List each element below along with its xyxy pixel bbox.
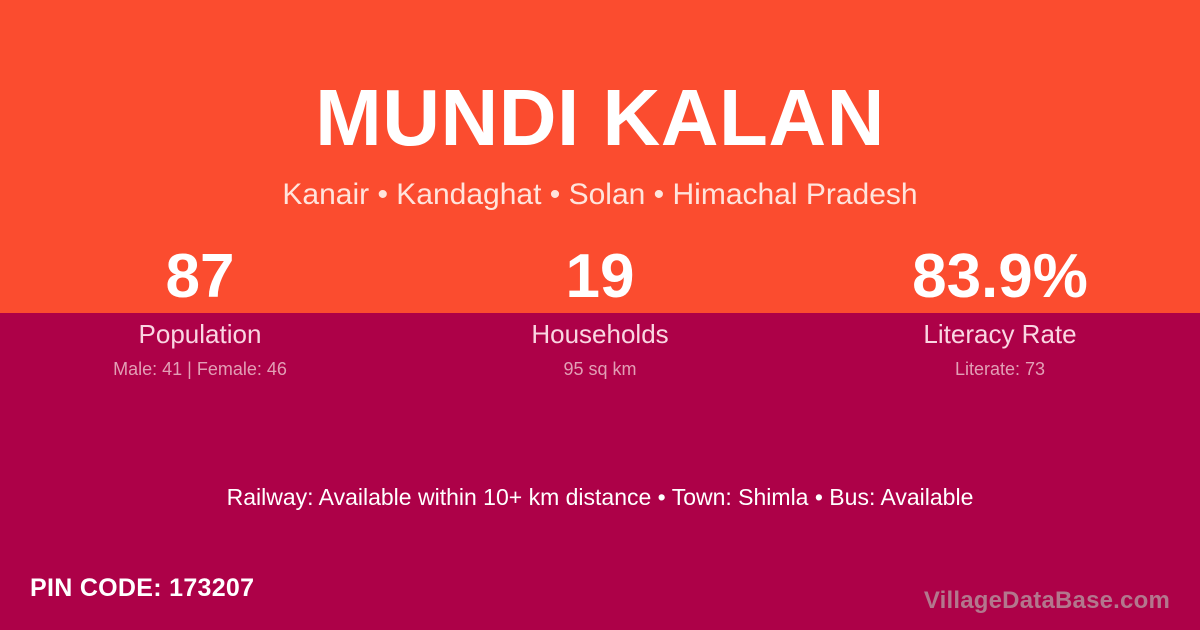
stat-population: 87 Population Male: 41 | Female: 46 xyxy=(0,246,400,378)
stat-value-literacy-rate: 83.9% xyxy=(800,246,1200,308)
stat-sub-households: 95 sq km xyxy=(400,360,800,378)
hero-section: MUNDI KALAN Kanair • Kandaghat • Solan •… xyxy=(0,0,1200,210)
page-title: MUNDI KALAN xyxy=(0,78,1200,158)
stat-sub-literacy-rate: Literate: 73 xyxy=(800,360,1200,378)
stat-households: 19 Households 95 sq km xyxy=(400,246,800,378)
stat-sub-population: Male: 41 | Female: 46 xyxy=(0,360,400,378)
breadcrumb: Kanair • Kandaghat • Solan • Himachal Pr… xyxy=(0,180,1200,210)
infrastructure-summary: Railway: Available within 10+ km distanc… xyxy=(0,486,1200,509)
village-info-card: MUNDI KALAN Kanair • Kandaghat • Solan •… xyxy=(0,0,1200,630)
stat-label-households: Households xyxy=(400,321,800,347)
site-watermark: VillageDataBase.com xyxy=(924,589,1170,613)
stat-literacy-rate: 83.9% Literacy Rate Literate: 73 xyxy=(800,246,1200,378)
stat-label-population: Population xyxy=(0,321,400,347)
pin-code: PIN CODE: 173207 xyxy=(30,576,254,601)
stats-row: 87 Population Male: 41 | Female: 46 19 H… xyxy=(0,246,1200,378)
stat-value-households: 19 xyxy=(400,246,800,308)
stat-value-population: 87 xyxy=(0,246,400,308)
stat-label-literacy-rate: Literacy Rate xyxy=(800,321,1200,347)
